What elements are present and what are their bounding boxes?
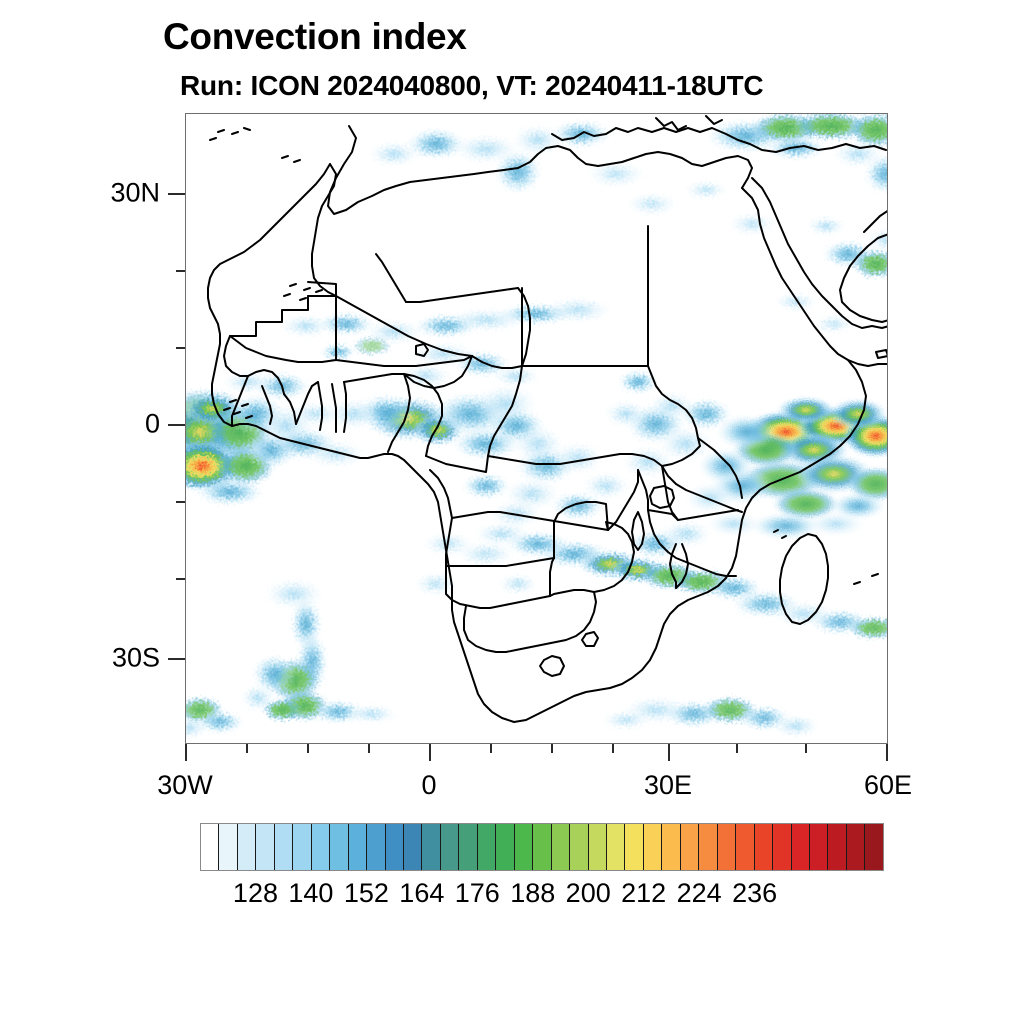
xtick-major-60e [886,744,888,761]
colorbar-tick-label: 200 [566,878,611,909]
colorbar-tick-label: 176 [455,878,500,909]
ytick-minor [176,270,185,272]
colorbar-cell [736,824,754,870]
colorbar-tick-label: 152 [344,878,389,909]
xtick-minor [612,744,614,753]
colorbar-cell [718,824,736,870]
colorbar-cell [441,824,459,870]
colorbar-tick-label: 224 [677,878,722,909]
colorbar-cell [330,824,348,870]
xtick-major-0 [429,744,431,761]
map-frame [185,113,888,744]
colorbar-cell [496,824,514,870]
colorbar-cell [699,824,717,870]
colorbar-cell [349,824,367,870]
colorbar-cell [533,824,551,870]
page-title: Convection index [163,16,467,58]
ytick-major-0 [168,424,185,426]
colorbar-tick-labels: 128140152164176188200212224236 [0,878,1024,918]
xtick-label-60e: 60E [864,770,912,801]
colorbar-cell [478,824,496,870]
colorbar-cell [515,824,533,870]
xtick-label-30e: 30E [644,770,692,801]
colorbar-tick-label: 140 [288,878,333,909]
colorbar-cells [200,823,884,871]
colorbar-cell [422,824,440,870]
ytick-label-30n: 30N [40,178,160,209]
colorbar-cell [312,824,330,870]
convection-index-chart: Convection index Run: ICON 2024040800, V… [0,0,1024,1024]
xtick-minor [368,744,370,753]
xtick-minor [736,744,738,753]
colorbar-cell [810,824,828,870]
map-panel [185,113,888,744]
xtick-major-30e [668,744,670,761]
xtick-minor [307,744,309,753]
xtick-minor [805,744,807,753]
colorbar-cell [238,824,256,870]
colorbar-cell [552,824,570,870]
colorbar-cell [607,824,625,870]
colorbar-tick-label: 128 [233,878,278,909]
xtick-label-0: 0 [421,770,436,801]
colorbar [200,823,884,871]
colorbar-cell [792,824,810,870]
colorbar-tick-label: 236 [732,878,777,909]
colorbar-cell [570,824,588,870]
colorbar-cell [681,824,699,870]
colorbar-cell [404,824,422,870]
colorbar-cell [865,824,882,870]
colorbar-cell [662,824,680,870]
ytick-minor [176,501,185,503]
colorbar-cell [755,824,773,870]
colorbar-cell [201,824,219,870]
colorbar-cell [367,824,385,870]
colorbar-cell [459,824,477,870]
ytick-label-0: 0 [40,409,160,440]
colorbar-cell [275,824,293,870]
colorbar-cell [589,824,607,870]
xtick-minor [490,744,492,753]
chart-subtitle: Run: ICON 2024040800, VT: 20240411-18UTC [180,70,763,102]
colorbar-cell [847,824,865,870]
colorbar-cell [828,824,846,870]
ytick-label-30s: 30S [40,643,160,674]
colorbar-cell [644,824,662,870]
ytick-minor [176,347,185,349]
colorbar-cell [293,824,311,870]
ytick-minor [176,578,185,580]
xtick-minor [246,744,248,753]
colorbar-tick-label: 188 [510,878,555,909]
colorbar-tick-label: 164 [399,878,444,909]
xtick-major-30w [185,744,187,761]
colorbar-cell [219,824,237,870]
colorbar-tick-label: 212 [621,878,666,909]
colorbar-cell [625,824,643,870]
ytick-major-30s [168,658,185,660]
xtick-label-30w: 30W [157,770,213,801]
colorbar-cell [773,824,791,870]
map-canvas [186,114,888,744]
ytick-major-30n [168,193,185,195]
colorbar-cell [386,824,404,870]
colorbar-cell [256,824,274,870]
xtick-minor [551,744,553,753]
